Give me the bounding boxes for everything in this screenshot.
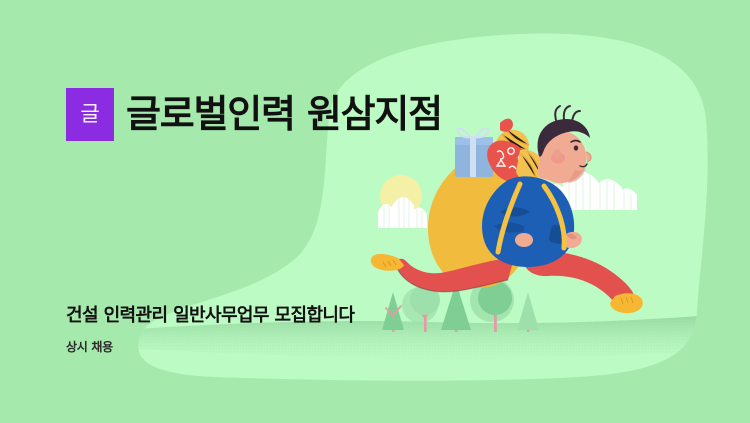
job-headline: 건설 인력관리 일반사무업무 모집합니다 <box>66 305 354 328</box>
job-posting-banner: 글 글로벌인력 원삼지점 건설 인력관리 일반사무업무 모집합니다 상시 채용 <box>0 0 750 423</box>
runner-hip-hand <box>515 233 533 247</box>
background-base <box>0 0 750 423</box>
left-cloud <box>378 194 427 228</box>
runner-arm <box>524 224 584 250</box>
tree-row <box>382 278 539 332</box>
ornament-yellow-small <box>516 150 543 182</box>
runner-torso <box>482 176 574 267</box>
tree-pine <box>441 282 471 332</box>
runner-back-shoe <box>371 254 404 271</box>
sack-strap <box>498 184 564 252</box>
brand-header: 글 글로벌인력 원삼지점 <box>66 70 442 159</box>
tree-pine <box>517 292 539 332</box>
runner-head <box>538 106 592 183</box>
copy-block: 건설 인력관리 일반사무업무 모집합니다 상시 채용 <box>66 305 354 354</box>
gift-sack <box>428 158 528 288</box>
runner-front-shoe <box>610 293 643 313</box>
runner-front-leg <box>524 250 635 309</box>
brand-badge-character: 글 <box>80 104 99 125</box>
tree-round <box>410 285 440 332</box>
illustration-artwork <box>0 0 750 423</box>
tree-pine <box>382 292 404 332</box>
sun-icon <box>380 175 422 217</box>
ornament-leaf <box>500 119 513 132</box>
tree-round <box>478 281 512 332</box>
runner-back-leg <box>396 258 514 292</box>
right-cloud <box>545 164 637 210</box>
gift-box <box>455 129 493 177</box>
page-title: 글로벌인력 원삼지점 <box>126 95 442 133</box>
ornament-red <box>487 141 529 183</box>
job-subtext: 상시 채용 <box>66 340 354 354</box>
brand-badge: 글 <box>66 88 114 141</box>
ornament-yellow <box>490 125 534 167</box>
